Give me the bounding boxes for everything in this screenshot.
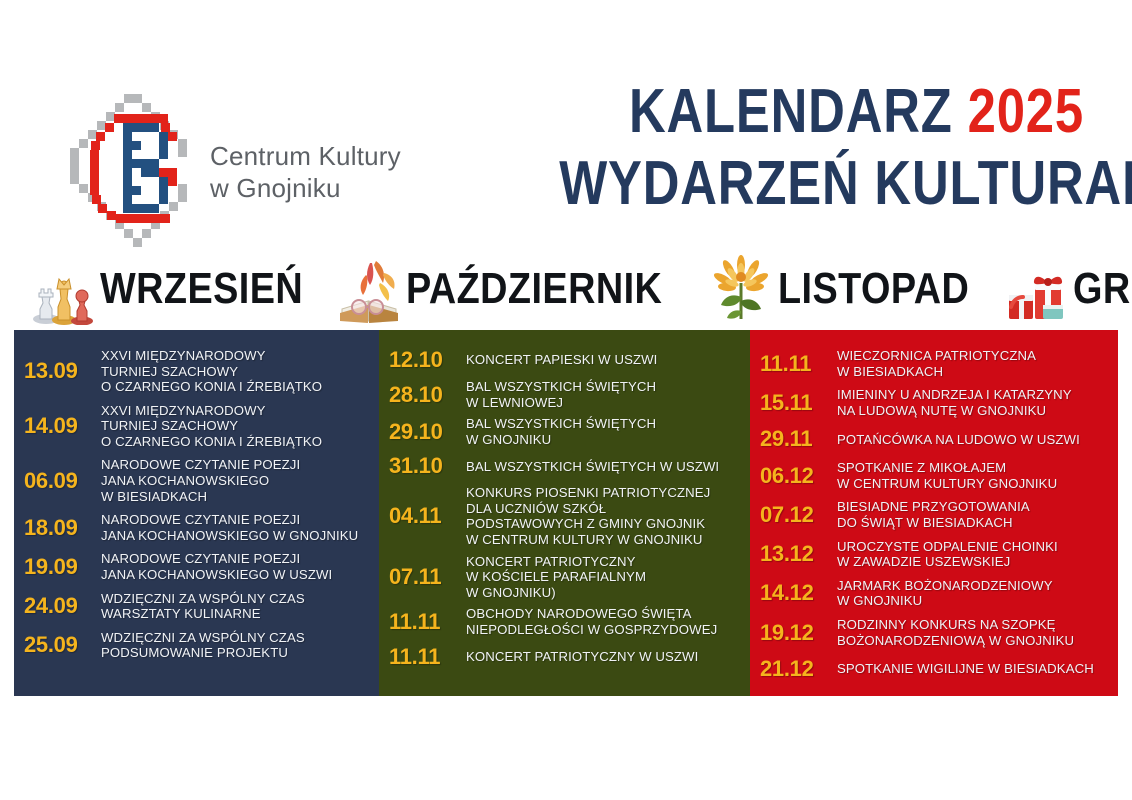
event-row[interactable]: 29.11 POTAŃCÓWKA NA LUDOWO W USZWI [760,422,1108,456]
event-row[interactable]: 11.11 WIECZORNICA PATRIOTYCZNA W BIESIAD… [760,344,1108,383]
events-panel-wrzesien: 13.09 XXVI MIĘDZYNARODOWY TURNIEJ SZACHO… [14,330,379,696]
event-row[interactable]: 28.10 BAL WSZYSTKICH ŚWIĘTYCH W LEWNIOWE… [389,376,740,413]
event-date: 25.09 [24,632,92,658]
month-header-wrzesien: WRZESIEŃ [30,250,336,328]
event-row[interactable]: 04.11 KONKURS PIOSENKI PATRIOTYCZNEJ DLA… [389,482,740,550]
event-title: NARODOWE CZYTANIE POEZJI JANA KOCHANOWSK… [101,551,332,582]
event-title: POTAŃCÓWKA NA LUDOWO W USZWI [837,432,1080,448]
event-row[interactable]: 12.10 KONCERT PAPIESKI W USZWI [389,344,740,376]
event-date: 04.11 [389,503,457,529]
event-title: SPOTKANIE WIGILIJNE W BIESIADKACH [837,661,1094,677]
poster-title: KALENDARZ 2025 WYDARZEŃ KULTURALNYCH [444,82,1084,213]
event-row[interactable]: 19.12 RODZINNY KONKURS NA SZOPKĘ BOŻONAR… [760,613,1108,652]
event-title: WIECZORNICA PATRIOTYCZNA W BIESIADKACH [837,348,1036,379]
month-label-listopad: LISTOPAD [778,264,969,314]
brand-name: Centrum Kultury w Gnojniku [210,141,401,204]
event-date: 29.10 [389,419,457,445]
brand-lockup: Centrum Kultury w Gnojniku [62,92,401,254]
event-date: 19.12 [760,620,828,646]
event-date: 14.12 [760,580,828,606]
event-date: 06.12 [760,463,828,489]
event-date: 06.09 [24,468,92,494]
event-row[interactable]: 07.12 BIESIADNE PRZYGOTOWANIA DO ŚWIĄT W… [760,495,1108,534]
events-panel-pazdziernik-listopad: 12.10 KONCERT PAPIESKI W USZWI 28.10 BAL… [379,330,750,696]
event-date: 29.11 [760,426,828,452]
event-title: SPOTKANIE Z MIKOŁAJEM W CENTRUM KULTURY … [837,460,1057,491]
event-panels: 13.09 XXVI MIĘDZYNARODOWY TURNIEJ SZACHO… [14,330,1118,696]
event-title: KONKURS PIOSENKI PATRIOTYCZNEJ DLA UCZNI… [466,485,710,547]
chess-pieces-icon [30,253,96,325]
event-title: XXVI MIĘDZYNARODOWY TURNIEJ SZACHOWY O C… [101,348,322,395]
event-row[interactable]: 25.09 WDZIĘCZNI ZA WSPÓLNY CZAS PODSUMOW… [24,626,369,665]
event-date: 13.12 [760,541,828,567]
event-row[interactable]: 19.09 NARODOWE CZYTANIE POEZJI JANA KOCH… [24,547,369,586]
event-date: 15.11 [760,390,828,416]
event-row[interactable]: 14.12 JARMARK BOŻONARODZENIOWY W GNOJNIK… [760,574,1108,613]
event-title: BAL WSZYSTKICH ŚWIĘTYCH W LEWNIOWEJ [466,379,656,410]
event-title: IMIENINY U ANDRZEJA I KATARZYNY NA LUDOW… [837,387,1072,418]
event-title: WDZIĘCZNI ZA WSPÓLNY CZAS WARSZTATY KULI… [101,591,305,622]
poster-header: Centrum Kultury w Gnojniku KALENDARZ 202… [0,0,1132,248]
month-label-grudzien: GRUDZIEŃ [1073,264,1132,314]
ck-cross-stitch-monogram-icon [62,92,194,254]
event-row[interactable]: 24.09 WDZIĘCZNI ZA WSPÓLNY CZAS WARSZTAT… [24,587,369,626]
month-header-strip: WRZESIEŃ [0,250,1132,328]
event-row[interactable]: 13.12 UROCZYSTE ODPALENIE CHOINKI W ZAWA… [760,535,1108,574]
event-row[interactable]: 11.11 KONCERT PATRIOTYCZNY W USZWI [389,641,740,673]
event-row[interactable]: 15.11 IMIENINY U ANDRZEJA I KATARZYNY NA… [760,383,1108,422]
event-title: NARODOWE CZYTANIE POEZJI JANA KOCHANOWSK… [101,457,300,504]
open-book-autumn-leaves-glasses-icon [336,253,402,325]
event-date: 21.12 [760,656,828,682]
event-row[interactable]: 21.12 SPOTKANIE WIGILIJNE W BIESIADKACH [760,652,1108,686]
event-title: BIESIADNE PRZYGOTOWANIA DO ŚWIĄT W BIESI… [837,499,1030,530]
event-title: KONCERT PATRIOTYCZNY W USZWI [466,649,698,665]
event-date: 28.10 [389,382,457,408]
event-date: 07.11 [389,564,457,590]
event-row[interactable]: 31.10 BAL WSZYSTKICH ŚWIĘTYCH W USZWI [389,450,740,482]
event-title: RODZINNY KONKURS NA SZOPKĘ BOŻONARODZENI… [837,617,1074,648]
event-date: 12.10 [389,347,457,373]
event-row[interactable]: 11.11 OBCHODY NARODOWEGO ŚWIĘTA NIEPODLE… [389,603,740,640]
christmas-gifts-icon [1003,253,1069,325]
event-date: 19.09 [24,554,92,580]
event-title: KONCERT PAPIESKI W USZWI [466,352,657,368]
event-title: OBCHODY NARODOWEGO ŚWIĘTA NIEPODLEGŁOŚCI… [466,606,717,637]
event-row[interactable]: 18.09 NARODOWE CZYTANIE POEZJI JANA KOCH… [24,508,369,547]
event-date: 11.11 [389,609,457,635]
event-date: 11.11 [760,351,828,377]
chrysanthemum-flower-icon [708,253,774,325]
title-line-2: WYDARZEŃ KULTURALNYCH [559,154,1084,214]
event-date: 07.12 [760,502,828,528]
month-label-wrzesien: WRZESIEŃ [100,264,303,314]
event-title: UROCZYSTE ODPALENIE CHOINKI W ZAWADZIE U… [837,539,1058,570]
event-title: BAL WSZYSTKICH ŚWIĘTYCH W GNOJNIKU [466,416,656,447]
event-title: XXVI MIĘDZYNARODOWY TURNIEJ SZACHOWY O C… [101,403,322,450]
event-row[interactable]: 06.09 NARODOWE CZYTANIE POEZJI JANA KOCH… [24,453,369,508]
title-year: 2025 [968,77,1084,146]
title-main-word: KALENDARZ [629,77,953,146]
events-panel-listopad-grudzien: 11.11 WIECZORNICA PATRIOTYCZNA W BIESIAD… [750,330,1118,696]
event-title: BAL WSZYSTKICH ŚWIĘTYCH W USZWI [466,459,719,475]
event-row[interactable]: 06.12 SPOTKANIE Z MIKOŁAJEM W CENTRUM KU… [760,456,1108,495]
event-row[interactable]: 13.09 XXVI MIĘDZYNARODOWY TURNIEJ SZACHO… [24,344,369,399]
event-row[interactable]: 07.11 KONCERT PATRIOTYCZNY W KOŚCIELE PA… [389,551,740,604]
event-date: 11.11 [389,644,457,670]
month-header-grudzien: GRUDZIEŃ [1003,250,1132,328]
month-header-pazdziernik: PAŹDZIERNIK [336,250,704,328]
event-date: 31.10 [389,453,457,479]
month-label-pazdziernik: PAŹDZIERNIK [406,264,662,314]
event-date: 14.09 [24,413,92,439]
event-date: 13.09 [24,358,92,384]
event-title: JARMARK BOŻONARODZENIOWY W GNOJNIKU [837,578,1053,609]
event-title: KONCERT PATRIOTYCZNY W KOŚCIELE PARAFIAL… [466,554,646,601]
event-row[interactable]: 29.10 BAL WSZYSTKICH ŚWIĘTYCH W GNOJNIKU [389,413,740,450]
event-date: 18.09 [24,515,92,541]
event-title: WDZIĘCZNI ZA WSPÓLNY CZAS PODSUMOWANIE P… [101,630,305,661]
event-row[interactable]: 14.09 XXVI MIĘDZYNARODOWY TURNIEJ SZACHO… [24,399,369,454]
event-title: NARODOWE CZYTANIE POEZJI JANA KOCHANOWSK… [101,512,358,543]
title-line-1: KALENDARZ 2025 [559,82,1084,142]
month-header-listopad: LISTOPAD [708,250,1000,328]
event-date: 24.09 [24,593,92,619]
